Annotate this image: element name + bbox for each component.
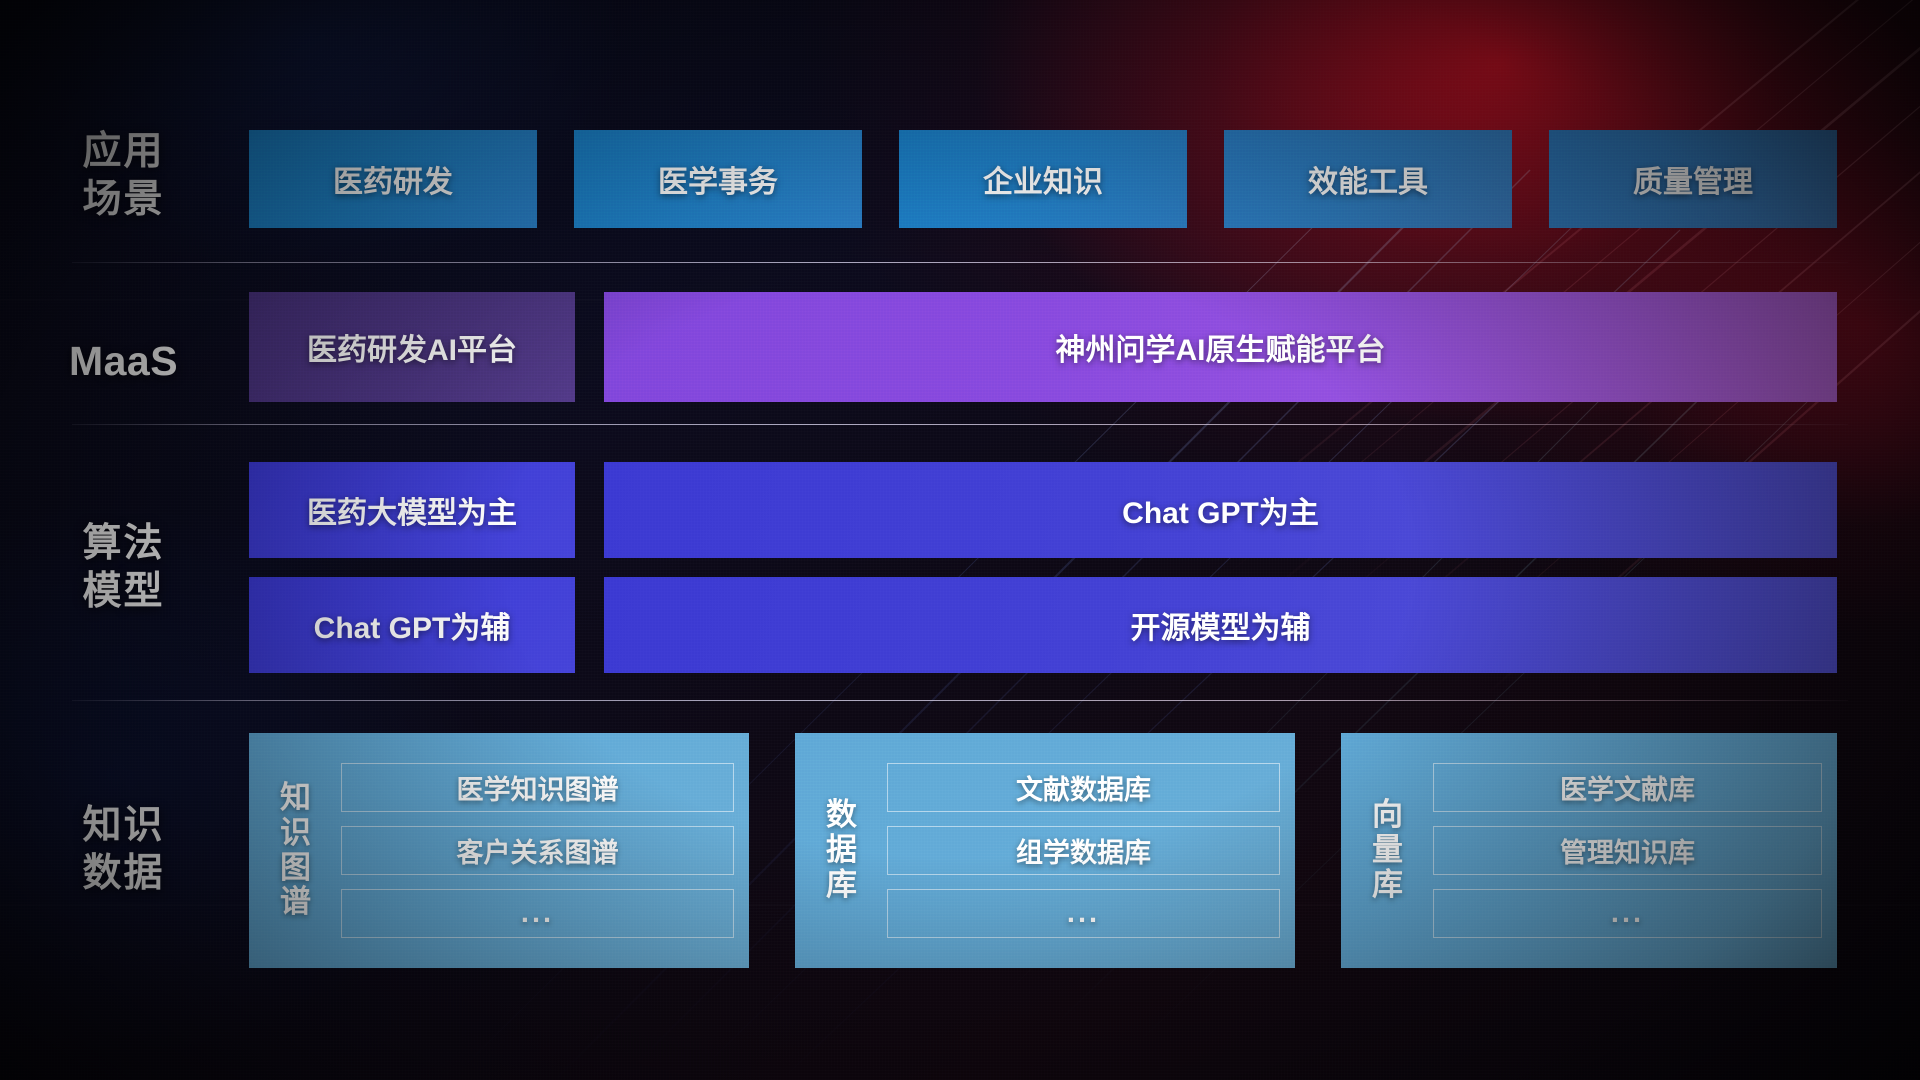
diagram-canvas: 应用 场景 医药研发 医学事务 企业知识 效能工具 质量管理 MaaS [0,0,1920,1080]
background-vignette [0,0,1920,1080]
